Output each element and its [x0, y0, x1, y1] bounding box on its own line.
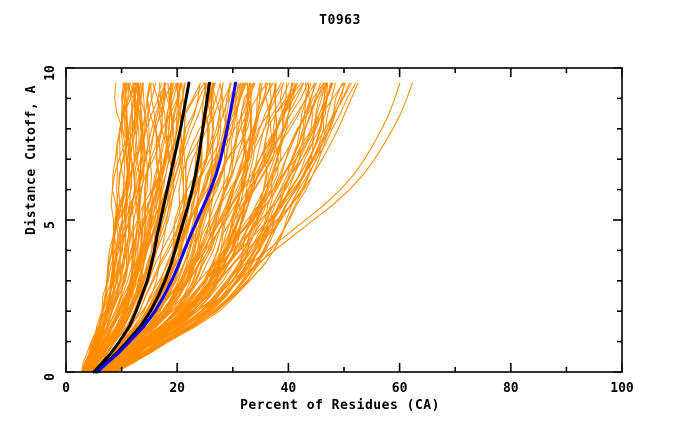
y-tick-label: 5	[43, 221, 58, 229]
x-tick-label: 40	[281, 381, 297, 396]
chart-page: T0963 0204060801000510 Percent of Residu…	[0, 0, 680, 440]
x-tick-label: 80	[503, 381, 519, 396]
x-tick-label: 100	[610, 381, 634, 396]
y-tick-label: 0	[43, 373, 58, 381]
y-tick-label: 10	[43, 65, 58, 81]
y-axis-label: Distance Cutoff, A	[24, 85, 39, 235]
x-tick-label: 20	[169, 381, 185, 396]
ensemble-curves-group	[81, 83, 412, 372]
x-tick-label: 0	[62, 381, 70, 396]
plot-canvas: 0204060801000510	[0, 0, 680, 440]
x-tick-label: 60	[392, 381, 408, 396]
y-axis-label-wrap: Distance Cutoff, A	[20, 10, 40, 310]
ensemble-curve	[86, 83, 139, 372]
x-axis-label: Percent of Residues (CA)	[0, 398, 680, 413]
